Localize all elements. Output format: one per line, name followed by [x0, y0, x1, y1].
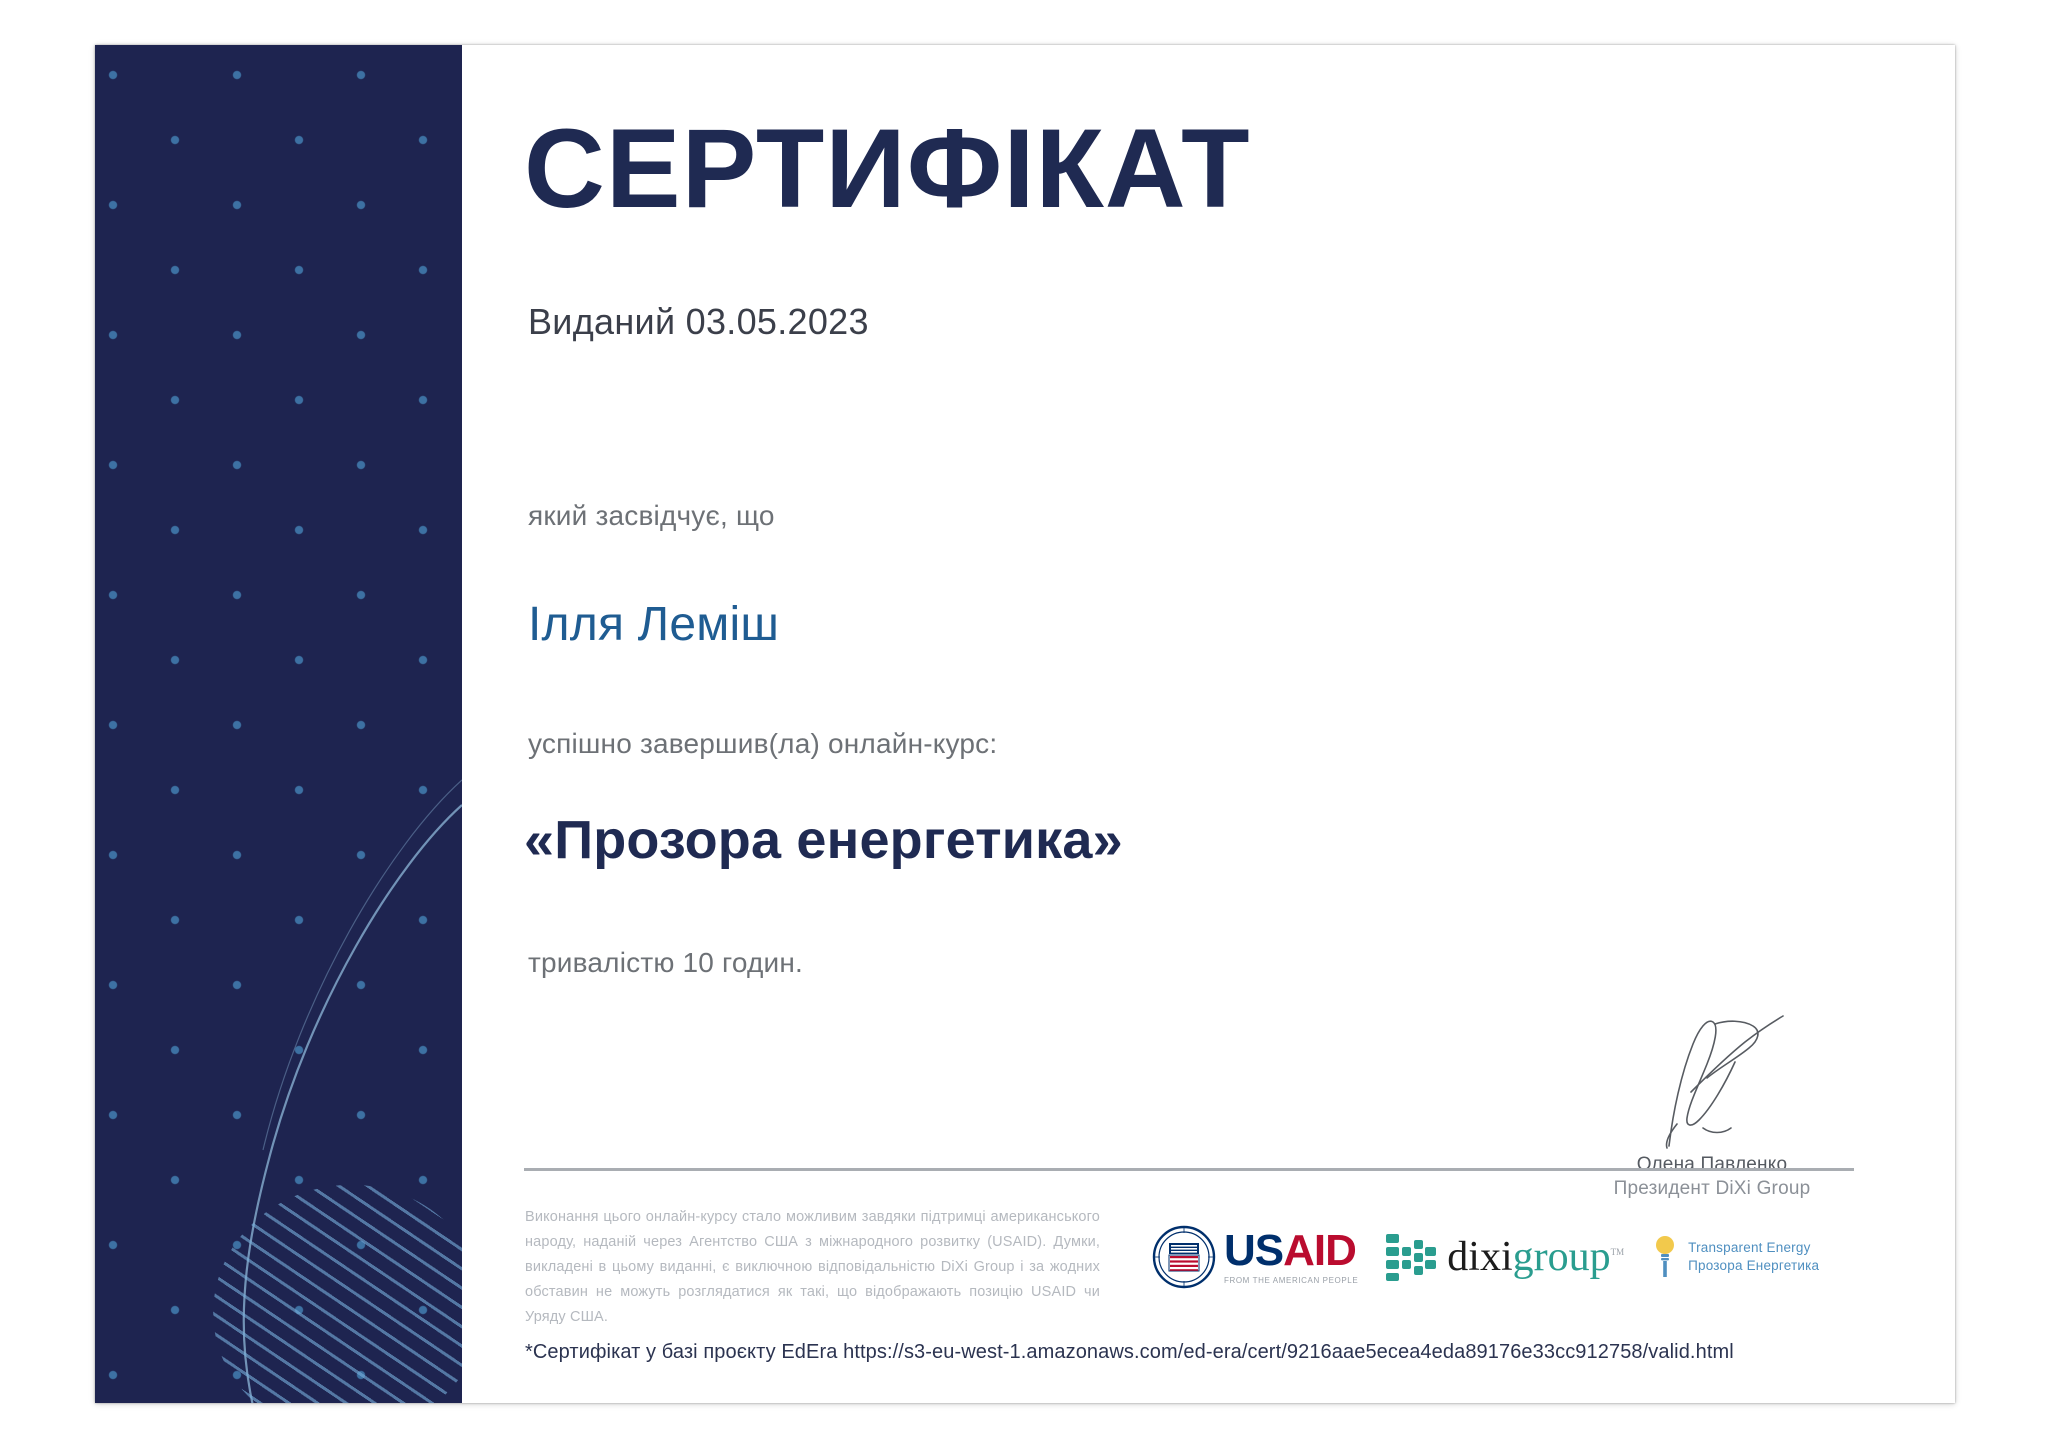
dixi-tm-mark: TM	[1611, 1247, 1625, 1257]
decorative-side-panel	[95, 45, 462, 1403]
lightbulb-icon	[1650, 1231, 1680, 1283]
transparent-energy-text: Transparent Energy Прозора Енергетика	[1688, 1239, 1819, 1275]
dixi-wordmark: dixigroupTM	[1447, 1236, 1624, 1278]
dixi-bracket-icon	[1384, 1230, 1438, 1284]
usaid-tagline: FROM THE AMERICAN PEOPLE	[1224, 1276, 1358, 1285]
transparent-energy-logo: Transparent Energy Прозора Енергетика	[1650, 1231, 1819, 1283]
dixigroup-logo: dixigroupTM	[1384, 1230, 1624, 1284]
course-name: «Прозора енергетика»	[524, 809, 1123, 871]
completion-line: успішно завершив(ла) онлайн-курс:	[528, 728, 997, 760]
te-line-en: Transparent Energy	[1688, 1239, 1819, 1257]
certificate-body: СЕРТИФІКАТ Виданий 03.05.2023 який засві…	[462, 45, 1955, 1403]
usaid-seal-icon	[1152, 1225, 1216, 1289]
signatory-name: Олена Павленко	[1547, 1154, 1877, 1176]
usaid-logo: USAID FROM THE AMERICAN PEOPLE	[1152, 1225, 1358, 1289]
signatory-title: Президент DiXi Group	[1547, 1178, 1877, 1200]
recipient-name: Ілля Леміш	[528, 597, 779, 652]
verification-url[interactable]: *Сертифікат у базі проєкту EdEra https:/…	[525, 1341, 1734, 1364]
footer-divider	[524, 1168, 1854, 1171]
usaid-wordmark: USAID	[1224, 1229, 1358, 1273]
usaid-aid-text: AID	[1283, 1226, 1356, 1275]
te-line-uk: Прозора Енергетика	[1688, 1257, 1819, 1275]
disclaimer-text: Виконання цього онлайн-курсу стало можли…	[525, 1205, 1100, 1330]
dixi-text: dixi	[1447, 1234, 1512, 1280]
hatched-ellipse-decoration	[197, 1167, 462, 1403]
usaid-us-text: US	[1224, 1226, 1283, 1275]
certificate-title: СЕРТИФІКАТ	[524, 113, 1251, 225]
intro-line: який засвідчує, що	[528, 500, 775, 532]
issued-date: Виданий 03.05.2023	[528, 301, 869, 343]
dixi-group-text: group	[1513, 1234, 1611, 1280]
certificate-card: СЕРТИФІКАТ Виданий 03.05.2023 який засві…	[95, 45, 1955, 1403]
duration-line: тривалістю 10 годин.	[528, 947, 803, 979]
signature-icon	[1607, 1000, 1817, 1150]
logo-row: USAID FROM THE AMERICAN PEOPLE	[1152, 1225, 1819, 1289]
